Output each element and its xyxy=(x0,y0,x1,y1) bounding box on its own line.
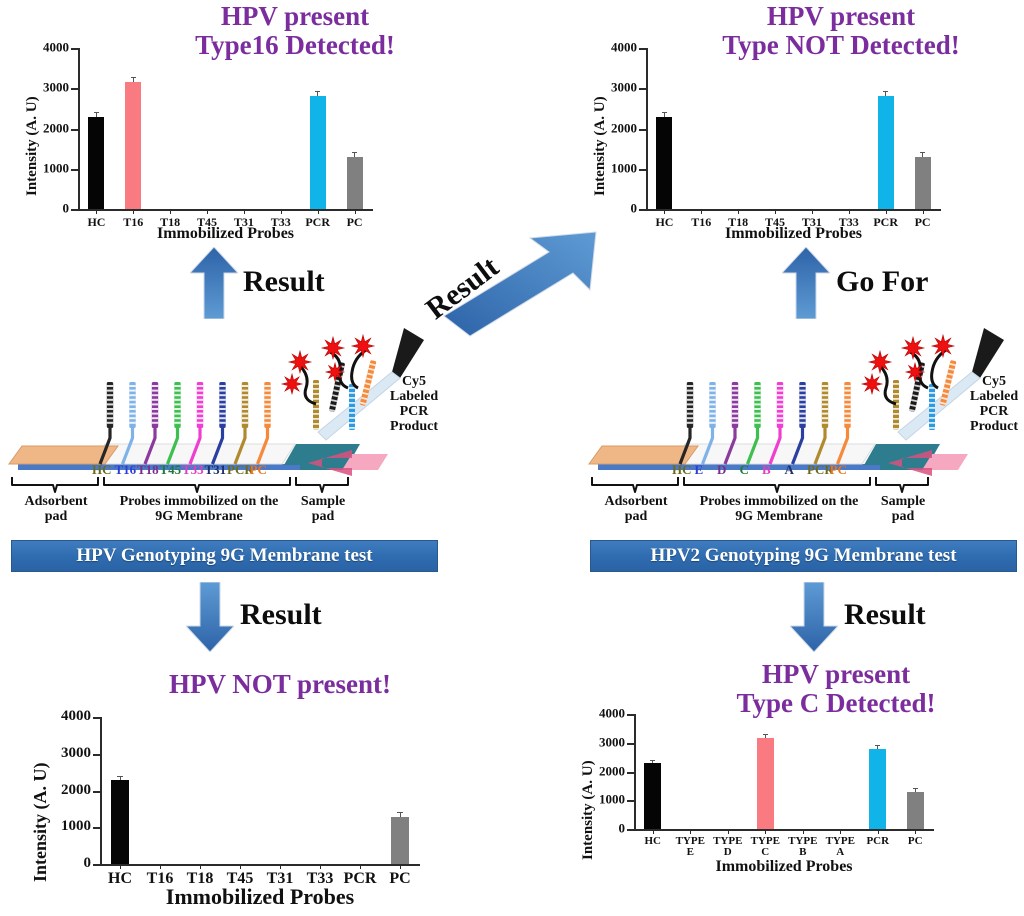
x-category-label: TYPE B xyxy=(784,836,822,858)
y-tick-label: 0 xyxy=(619,821,626,837)
x-tick xyxy=(170,209,171,214)
probe-label-t33: T33 xyxy=(182,462,204,478)
bracket-label-1: Probes immobilized on the 9G Membrane xyxy=(104,495,294,524)
left-down-arrow-label: Result xyxy=(240,598,322,632)
probe-label-hc: HC xyxy=(672,462,692,478)
x-axis-line xyxy=(646,209,941,211)
x-axis-line xyxy=(78,209,373,211)
probe-label-t31: T31 xyxy=(205,462,227,478)
y-tick-label: 0 xyxy=(84,855,92,872)
plot-area-bottom-left: 01000200030004000HCT16T18T45T31T33PCRPC xyxy=(100,717,420,864)
y-axis-line xyxy=(100,717,102,864)
x-tick xyxy=(200,864,201,869)
x-category-label: TYPE E xyxy=(672,836,710,858)
y-tick-label: 3000 xyxy=(599,734,625,750)
x-axis-line xyxy=(634,829,934,831)
x-tick xyxy=(133,209,134,214)
bar-hc xyxy=(88,117,104,209)
y-tick-label: 1000 xyxy=(43,160,69,176)
x-tick xyxy=(280,864,281,869)
x-category-label: TYPE C xyxy=(747,836,785,858)
probe-label-hc: HC xyxy=(92,462,112,478)
x-tick xyxy=(915,829,916,834)
probe-label-c: C xyxy=(740,462,749,478)
bar-hc xyxy=(656,117,672,209)
y-tick-label: 1000 xyxy=(599,792,625,808)
error-bar-cap xyxy=(650,760,655,761)
bar-pc xyxy=(391,817,409,864)
x-tick xyxy=(878,829,879,834)
x-tick xyxy=(738,209,739,214)
up-arrow-left xyxy=(190,247,238,319)
x-category-label: HC xyxy=(634,836,672,847)
x-axis-title-bottom-left: Immobilized Probes xyxy=(100,884,420,910)
y-tick-label: 2000 xyxy=(599,763,625,779)
x-category-label: TYPE A xyxy=(822,836,860,858)
y-tick xyxy=(627,829,634,831)
x-tick xyxy=(728,829,729,834)
y-tick xyxy=(639,209,646,211)
error-bar-cap xyxy=(397,812,402,813)
y-tick xyxy=(71,129,78,131)
y-tick-label: 1000 xyxy=(611,160,637,176)
y-tick xyxy=(627,800,634,802)
y-tick-label: 3000 xyxy=(61,745,91,762)
x-tick xyxy=(812,209,813,214)
bracket-label-0: Adsorbent pad xyxy=(590,495,682,524)
y-axis-label-bottom-left: Intensity (A. U) xyxy=(30,763,51,883)
error-bar-cap xyxy=(875,745,880,746)
bar-pc xyxy=(907,792,924,829)
plot-area-bottom-right: 01000200030004000HCTYPE ETYPE DTYPE CTYP… xyxy=(634,714,934,829)
error-bar-cap xyxy=(315,91,320,92)
x-tick xyxy=(775,209,776,214)
y-tick xyxy=(71,88,78,90)
x-category-label: TYPE D xyxy=(709,836,747,858)
y-tick xyxy=(71,169,78,171)
error-bar-cap xyxy=(883,91,888,92)
chart-title-bottom-right: HPV present Type C Detected! xyxy=(656,660,1016,717)
y-axis-label-top-right: Intensity (A. U) xyxy=(592,96,609,196)
chart-panel-bottom-right: HPV present Type C Detected! Intensity (… xyxy=(556,660,1024,916)
error-bar-cap xyxy=(94,112,99,113)
x-tick xyxy=(244,209,245,214)
x-tick xyxy=(664,209,665,214)
bracket-label-2: Sample pad xyxy=(294,495,352,524)
error-bar-cap xyxy=(662,112,667,113)
error-bar-cap xyxy=(131,77,136,78)
error-bar-cap xyxy=(117,776,122,777)
right-down-arrow-label: Result xyxy=(844,598,926,632)
probe-label-b: B xyxy=(762,462,771,478)
x-tick xyxy=(701,209,702,214)
x-tick xyxy=(400,864,401,869)
cy5-labeled-pcr-product-label: Cy5 Labeled PCR Product xyxy=(958,374,1024,434)
error-bar-cap xyxy=(763,734,768,735)
error-bar-cap xyxy=(920,152,925,153)
x-tick xyxy=(96,209,97,214)
y-tick-label: 4000 xyxy=(61,708,91,725)
bar-pcr xyxy=(869,749,886,830)
x-tick xyxy=(281,209,282,214)
y-tick-label: 4000 xyxy=(43,40,69,56)
y-tick xyxy=(639,129,646,131)
y-axis-line xyxy=(78,48,80,209)
bar-hc xyxy=(111,780,129,864)
probe-label-pc: PC xyxy=(830,462,847,478)
bracket-label-1: Probes immobilized on the 9G Membrane xyxy=(684,495,874,524)
x-tick xyxy=(923,209,924,214)
y-tick-label: 2000 xyxy=(61,782,91,799)
error-bar-cap xyxy=(913,788,918,789)
y-tick-label: 0 xyxy=(631,201,638,217)
down-arrow-left xyxy=(186,582,234,652)
x-tick xyxy=(355,209,356,214)
probe-label-e: E xyxy=(695,462,704,478)
y-axis-label-bottom-right: Intensity (A. U) xyxy=(580,760,597,860)
bracket-label-2: Sample pad xyxy=(874,495,932,524)
cy5-labeled-pcr-product-label: Cy5 Labeled PCR Product xyxy=(378,374,450,434)
x-axis-title-top-left: Immobilized Probes xyxy=(78,225,373,243)
x-tick xyxy=(840,829,841,834)
y-tick xyxy=(93,791,100,793)
y-tick-label: 1000 xyxy=(61,818,91,835)
y-tick-label: 4000 xyxy=(599,706,625,722)
bar-hc xyxy=(644,763,661,829)
chart-panel-top-left: HPV present Type16 Detected! Intensity (… xyxy=(0,0,512,232)
x-tick xyxy=(240,864,241,869)
x-tick xyxy=(318,209,319,214)
y-tick xyxy=(71,48,78,50)
y-tick xyxy=(639,88,646,90)
banner-right[interactable]: HPV2 Genotyping 9G Membrane test xyxy=(590,540,1017,572)
x-tick xyxy=(207,209,208,214)
y-tick xyxy=(93,754,100,756)
x-tick xyxy=(120,864,121,869)
x-tick xyxy=(320,864,321,869)
error-bar-cap xyxy=(352,152,357,153)
membrane-strip-right: HCEDCBAPCRPCAdsorbent padProbes immobili… xyxy=(580,322,1024,522)
x-category-label: PCR xyxy=(859,836,897,847)
x-category-label: PC xyxy=(897,836,935,847)
y-tick xyxy=(627,743,634,745)
y-tick xyxy=(93,864,100,866)
x-axis-title-bottom-right: Immobilized Probes xyxy=(634,858,934,876)
plot-area-top-right: 01000200030004000HCT16T18T45T31T33PCRPC xyxy=(646,48,941,209)
probe-label-t16: T16 xyxy=(115,462,137,478)
y-tick xyxy=(627,714,634,716)
x-tick xyxy=(765,829,766,834)
y-tick xyxy=(627,772,634,774)
up-arrow-right xyxy=(782,247,830,319)
right-up-arrow-label: Go For xyxy=(836,265,928,299)
probe-label-t45: T45 xyxy=(160,462,182,478)
bar-type-c xyxy=(757,738,774,829)
x-tick xyxy=(886,209,887,214)
left-up-arrow-label: Result xyxy=(243,265,325,299)
x-tick xyxy=(160,864,161,869)
y-axis-line xyxy=(646,48,648,209)
probe-label-pc: PC xyxy=(250,462,267,478)
probe-label-d: D xyxy=(717,462,726,478)
x-tick xyxy=(360,864,361,869)
chart-panel-top-right: HPV present Type NOT Detected! Intensity… xyxy=(568,0,1024,232)
x-axis-title-top-right: Immobilized Probes xyxy=(646,225,941,243)
banner-left[interactable]: HPV Genotyping 9G Membrane test xyxy=(11,540,438,572)
probe-label-a: A xyxy=(785,462,794,478)
y-tick-label: 3000 xyxy=(611,80,637,96)
bracket-label-0: Adsorbent pad xyxy=(10,495,102,524)
y-tick xyxy=(639,48,646,50)
x-tick xyxy=(653,829,654,834)
y-tick xyxy=(71,209,78,211)
chart-title-bottom-left: HPV NOT present! xyxy=(110,670,450,699)
bar-t16 xyxy=(125,82,141,209)
y-tick-label: 2000 xyxy=(43,120,69,136)
y-tick-label: 0 xyxy=(63,201,70,217)
bar-pcr xyxy=(310,96,326,209)
membrane-strip-left: HCT16T18T45T33T31PCRPCAdsorbent padProbe… xyxy=(0,322,450,522)
y-tick-label: 4000 xyxy=(611,40,637,56)
y-tick xyxy=(639,169,646,171)
x-tick xyxy=(690,829,691,834)
x-axis-line xyxy=(100,864,420,866)
plot-area-top-left: 01000200030004000HCT16T18T45T31T33PCRPC xyxy=(78,48,373,209)
x-tick xyxy=(849,209,850,214)
y-tick-label: 3000 xyxy=(43,80,69,96)
bar-pc xyxy=(915,157,931,209)
bar-pc xyxy=(347,157,363,209)
y-axis-label-top-left: Intensity (A. U) xyxy=(24,96,41,196)
y-tick xyxy=(93,827,100,829)
y-tick xyxy=(93,717,100,719)
x-tick xyxy=(803,829,804,834)
y-axis-line xyxy=(634,714,636,829)
down-arrow-right xyxy=(790,582,838,652)
bar-pcr xyxy=(878,96,894,209)
chart-panel-bottom-left: HPV NOT present! Intensity (A. U) 010002… xyxy=(0,660,512,916)
probe-label-t18: T18 xyxy=(137,462,159,478)
y-tick-label: 2000 xyxy=(611,120,637,136)
